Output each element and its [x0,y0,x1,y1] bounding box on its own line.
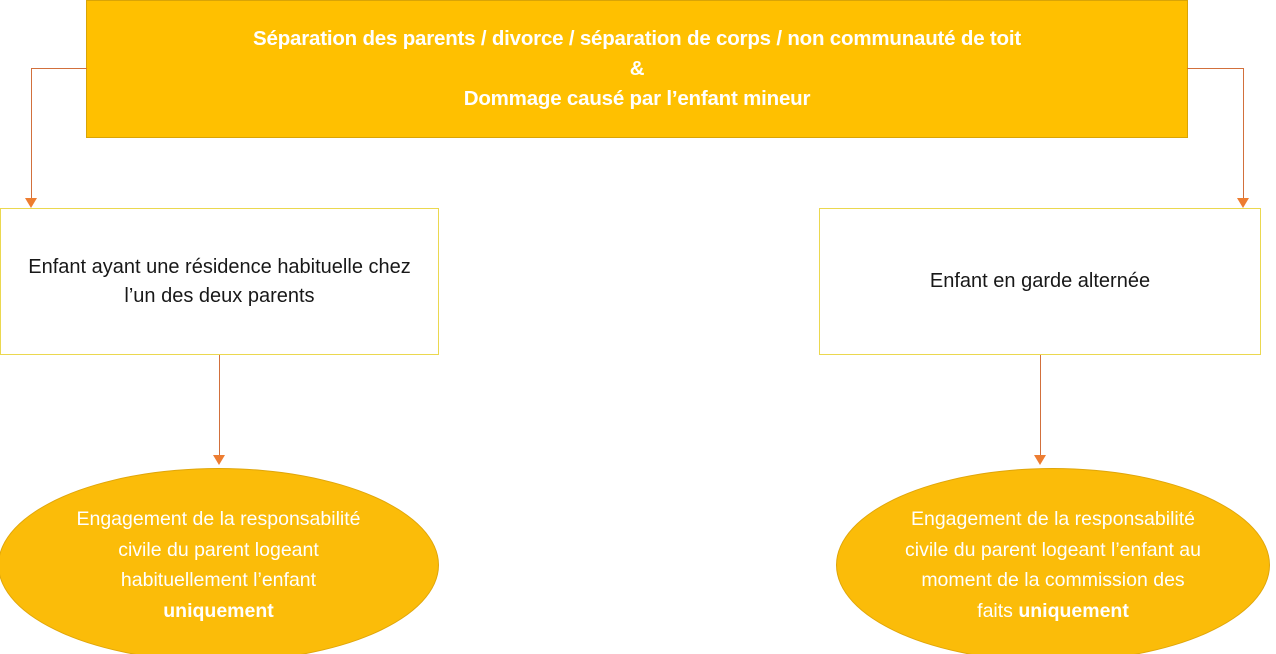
header-line-2-ampersand: & [630,54,645,84]
condition-box-left-text: Enfant ayant une résidence habituelle ch… [1,253,438,311]
header-line-3: Dommage causé par l’enfant mineur [464,84,811,114]
outcome-left-emphasis: uniquement [163,600,274,622]
connector-banner-to-right-vertical [1243,68,1244,201]
connector-banner-to-right-horizontal [1187,68,1244,69]
header-line-1: Séparation des parents / divorce / sépar… [253,24,1021,54]
diagram-canvas: Séparation des parents / divorce / sépar… [0,0,1276,654]
outcome-left-normal: Engagement de la responsabilité civile d… [76,508,360,591]
arrowhead-icon-banner-to-left-box [25,198,37,208]
connector-left-box-to-left-ellipse [219,355,220,458]
arrowhead-icon-banner-to-right-box [1237,198,1249,208]
outcome-ellipse-right-text: Engagement de la responsabilité civile d… [837,504,1269,626]
outcome-ellipse-left-text: Engagement de la responsabilité civile d… [0,504,438,626]
connector-banner-to-left-vertical [31,68,32,201]
condition-box-left: Enfant ayant une résidence habituelle ch… [0,208,439,355]
connector-banner-to-left-horizontal [31,68,87,69]
outcome-ellipse-right: Engagement de la responsabilité civile d… [836,468,1270,654]
condition-box-right: Enfant en garde alternée [819,208,1261,355]
header-banner: Séparation des parents / divorce / sépar… [86,0,1188,138]
outcome-ellipse-left: Engagement de la responsabilité civile d… [0,468,439,654]
arrowhead-icon-left-box-to-left-ellipse [213,455,225,465]
arrowhead-icon-right-box-to-right-ellipse [1034,455,1046,465]
condition-box-right-text: Enfant en garde alternée [920,267,1160,296]
outcome-right-emphasis: uniquement [1018,600,1129,622]
condition-left-line-1: Enfant ayant une résidence habituelle [28,256,363,278]
condition-right-line-1: Enfant en garde alternée [930,270,1150,292]
connector-right-box-to-right-ellipse [1040,355,1041,458]
